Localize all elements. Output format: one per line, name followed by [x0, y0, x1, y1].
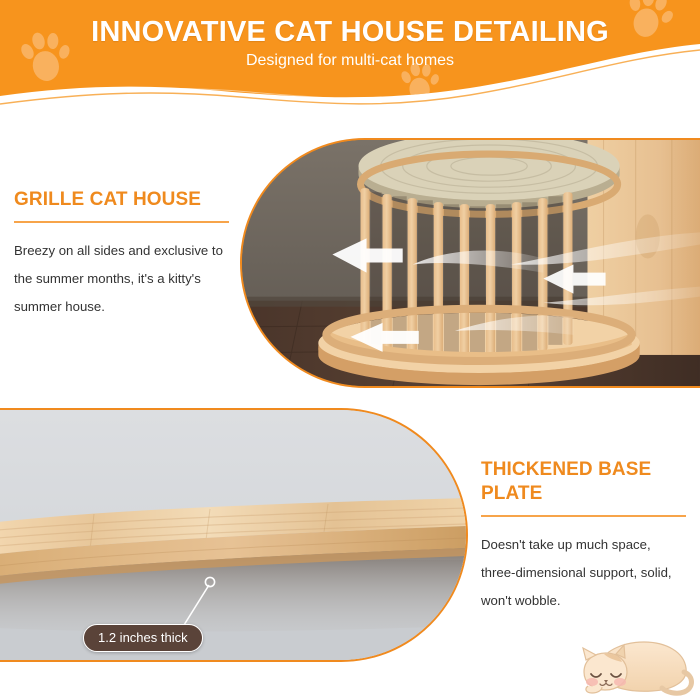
- thickness-callout-badge: 1.2 inches thick: [83, 624, 203, 652]
- page-subtitle: Designed for multi-cat homes: [0, 52, 700, 70]
- base-plate-text-block: THICKENED BASE PLATE Doesn't take up muc…: [481, 458, 686, 615]
- infographic-page: INNOVATIVE CAT HOUSE DETAILING Designed …: [0, 0, 700, 700]
- section-body-grille: Breezy on all sides and exclusive to the…: [14, 237, 229, 321]
- title-rule: [481, 515, 686, 517]
- title-rule: [14, 221, 229, 223]
- header-banner: INNOVATIVE CAT HOUSE DETAILING Designed …: [0, 0, 700, 108]
- grille-cat-house-image-panel: [240, 138, 700, 388]
- page-title: INNOVATIVE CAT HOUSE DETAILING: [0, 16, 700, 49]
- sleeping-cat-icon: [566, 636, 698, 700]
- section-body-base-plate: Doesn't take up much space, three-dimens…: [481, 531, 686, 615]
- grille-cat-house-photo: [242, 140, 700, 387]
- base-plate-image-panel: [0, 408, 468, 662]
- section-title-grille: GRILLE CAT HOUSE: [14, 188, 229, 212]
- grille-cat-house-text-block: GRILLE CAT HOUSE Breezy on all sides and…: [14, 188, 229, 321]
- section-title-base-plate: THICKENED BASE PLATE: [481, 458, 686, 506]
- base-plate-photo: [0, 410, 466, 660]
